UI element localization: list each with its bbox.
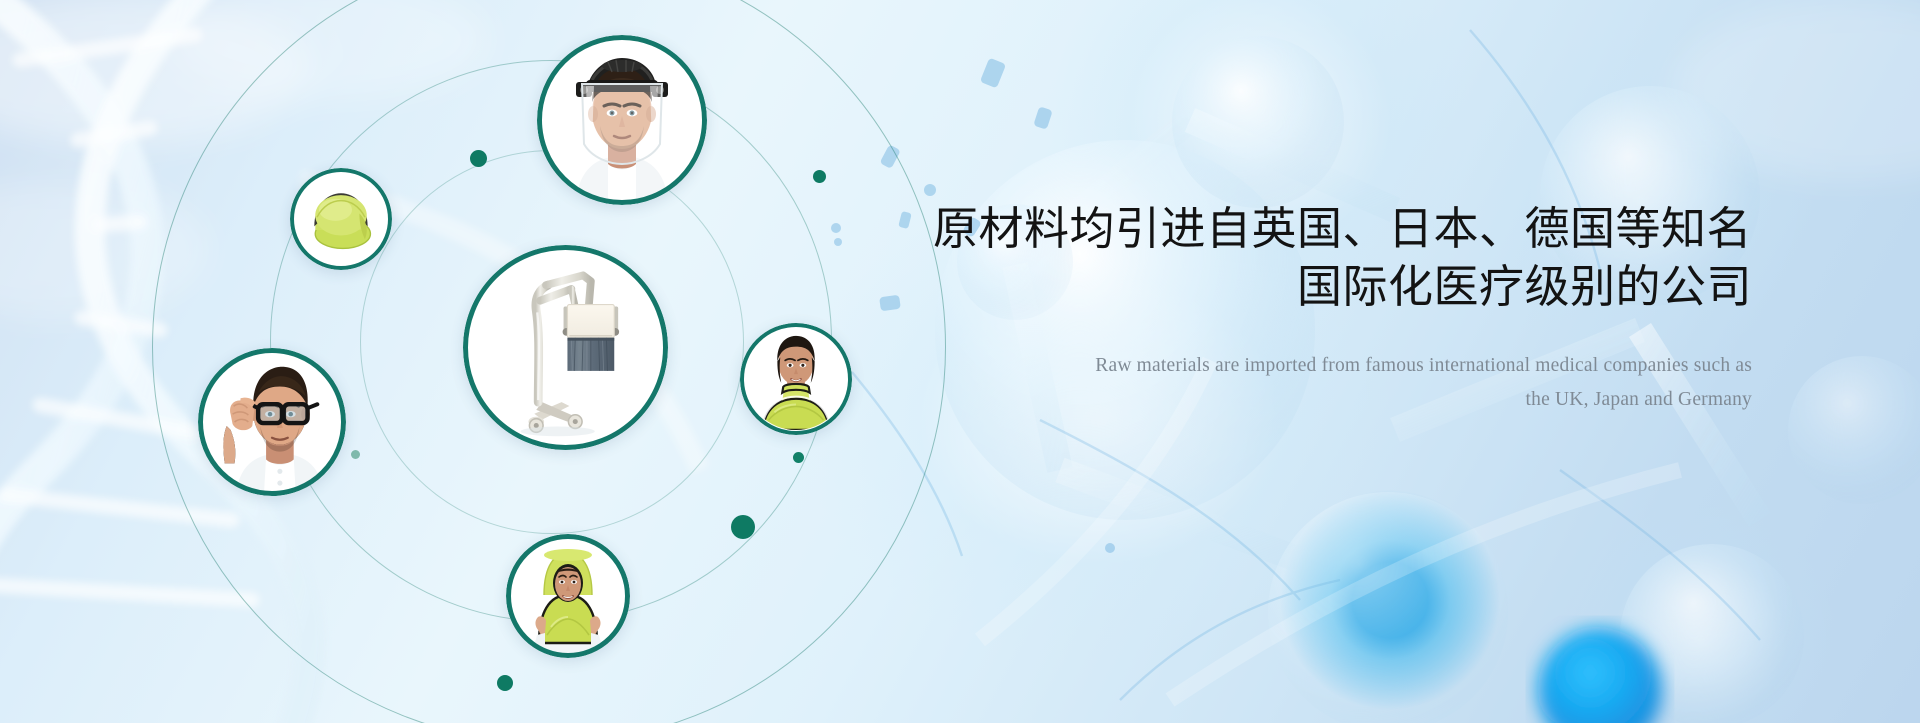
headline-line-2: 国际化医疗级别的公司 <box>922 258 1752 316</box>
lead-glasses-photo <box>203 353 341 491</box>
hero-copy-block: 原材料均引进自英国、日本、德国等知名 国际化医疗级别的公司 Raw materi… <box>922 200 1752 416</box>
eyeglasses-frame <box>246 402 317 423</box>
product-bubble-protective-hood[interactable] <box>506 534 630 658</box>
lead-glasses-illustration <box>203 353 341 491</box>
cap-photo <box>295 173 387 265</box>
mobile-shield-illustration <box>468 250 663 445</box>
hero-headline: 原材料均引进自英国、日本、德国等知名 国际化医疗级别的公司 <box>922 200 1752 315</box>
product-bubble-lead-glasses[interactable] <box>198 348 346 496</box>
product-bubble-face-shield[interactable] <box>537 35 707 205</box>
subtitle-line-2: the UK, Japan and Germany <box>922 383 1752 417</box>
dot-upper-right <box>813 170 826 183</box>
protective-hood-photo <box>511 539 625 653</box>
hero-subtitle: Raw materials are imported from famous i… <box>922 349 1752 416</box>
face-shield-illustration <box>542 40 702 200</box>
accent-blue-sphere <box>1538 628 1662 723</box>
face-shield-photo <box>542 40 702 200</box>
headline-line-1: 原材料均引进自英国、日本、德国等知名 <box>933 203 1752 254</box>
hero-banner: 原材料均引进自英国、日本、德国等知名 国际化医疗级别的公司 Raw materi… <box>0 0 1920 723</box>
product-bubble-cap[interactable] <box>290 168 392 270</box>
protective-hood-illustration <box>511 539 625 653</box>
dot-lower <box>497 675 513 691</box>
product-bubble-mobile-shield[interactable] <box>463 245 668 450</box>
product-bubble-thyroid-collar[interactable] <box>740 323 852 435</box>
subtitle-line-1: Raw materials are imported from famous i… <box>1095 355 1752 376</box>
dot-mid-left <box>351 450 360 459</box>
dot-large <box>731 515 755 539</box>
protective-cap-illustration <box>295 173 387 265</box>
thyroid-collar-illustration <box>745 328 847 430</box>
dot-upper-left <box>470 150 487 167</box>
dot-mid-right <box>793 452 804 463</box>
thyroid-collar-photo <box>745 328 847 430</box>
mobile-shield-photo <box>468 250 663 445</box>
